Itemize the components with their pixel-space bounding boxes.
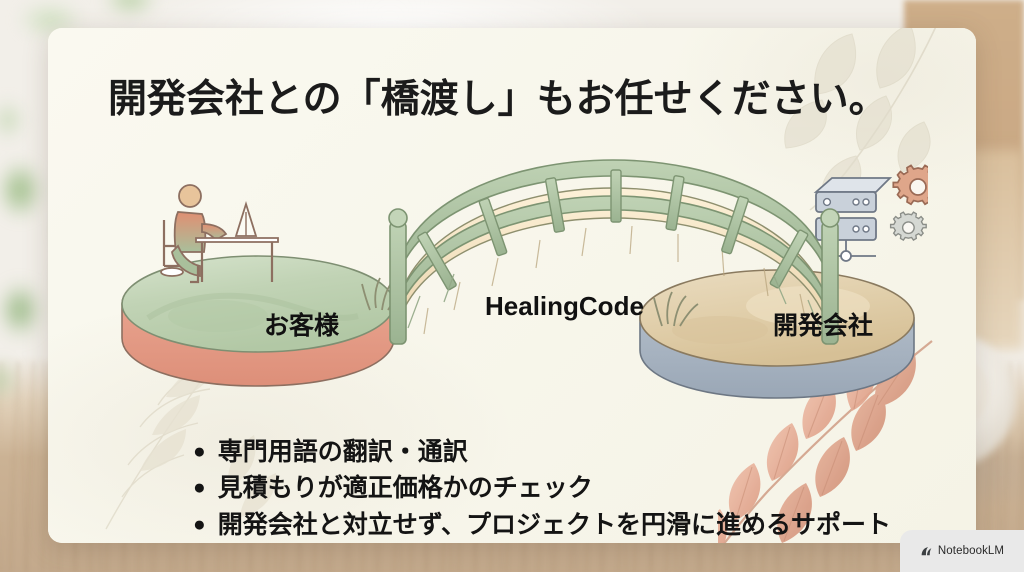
page-title: 開発会社との「橋渡し」もお任せください。: [108, 76, 928, 124]
list-item-label: 専門用語の翻訳・通訳: [218, 436, 468, 469]
notebooklm-watermark: NotebookLM: [900, 530, 1024, 572]
notebooklm-logo-icon: [920, 545, 933, 558]
slide-card: 開発会社との「橋渡し」もお任せください。: [48, 28, 976, 543]
bullet-list: ● 専門用語の翻訳・通訳 ● 見積もりが適正価格かのチェック ● 開発会社と対立…: [193, 436, 953, 543]
bridge-diagram: [108, 148, 928, 408]
bullet-marker-icon: ●: [193, 509, 206, 541]
list-item: ● 専門用語の翻訳・通訳: [193, 436, 953, 469]
slide-stage: 開発会社との「橋渡し」もお任せください。: [0, 0, 1024, 572]
left-island: [122, 256, 394, 386]
bullet-marker-icon: ●: [193, 436, 206, 468]
list-item: ● 開発会社と対立せず、プロジェクトを円滑に進めるサポート: [193, 509, 953, 542]
list-item: ● 見積もりが適正価格かのチェック: [193, 472, 953, 505]
label-dev-company: 開発会社: [773, 306, 873, 342]
gear-large-icon: [893, 165, 928, 204]
notebooklm-label: NotebookLM: [938, 545, 1004, 557]
bullet-marker-icon: ●: [193, 472, 206, 504]
bridge-diagram-svg: [108, 148, 928, 408]
label-healingcode: HealingCode: [485, 291, 644, 322]
label-customer: お客様: [264, 306, 339, 342]
list-item-label: 開発会社と対立せず、プロジェクトを円滑に進めるサポート: [218, 509, 891, 542]
bridge-post-left: [389, 209, 407, 344]
list-item-label: 見積もりが適正価格かのチェック: [218, 472, 593, 505]
gear-small-icon: [891, 212, 927, 240]
